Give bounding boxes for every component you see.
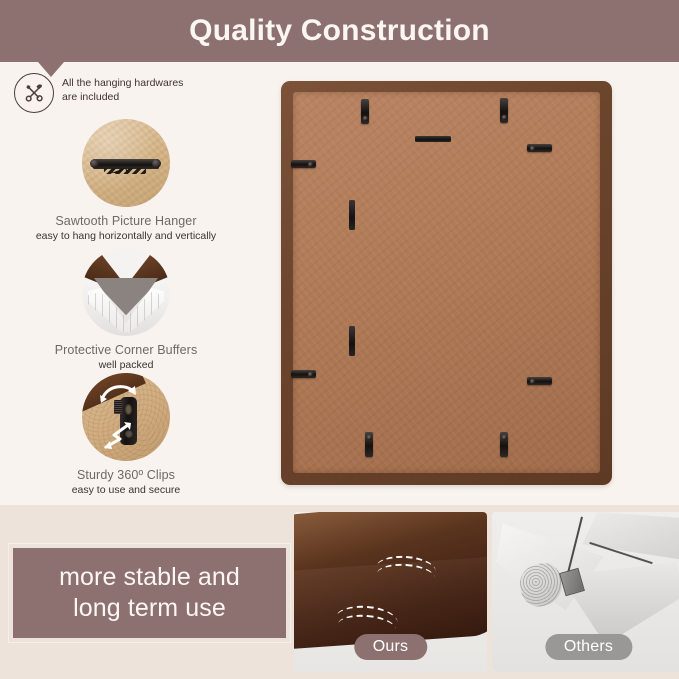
- hardware-note-line2: are included: [62, 91, 119, 103]
- claim-text: more stable and long term use: [59, 562, 240, 624]
- turn-clip-top-right: [500, 98, 508, 123]
- screw-right-icon: [152, 159, 161, 168]
- sturdy-360-clips-photo: [82, 373, 170, 461]
- feature-sawtooth-hanger: Sawtooth Picture Hanger easy to hang hor…: [0, 119, 252, 242]
- comparison-section: more stable and long term use Ours Othe: [0, 505, 679, 679]
- slide-arrows-icon: [100, 421, 134, 451]
- sawtooth-hanger-top: [415, 136, 451, 142]
- claim-line2: long term use: [73, 594, 226, 622]
- frame-backing-board: [293, 92, 600, 473]
- turn-clip-bottom-right: [500, 432, 508, 457]
- page-title: Quality Construction: [0, 0, 679, 62]
- features-column: All the hanging hardwares are included S…: [0, 62, 252, 505]
- product-infographic: Quality Construction All the hanging har…: [0, 0, 679, 679]
- protective-corner-buffers-photo: [82, 248, 170, 336]
- claim-banner: more stable and long term use: [13, 548, 286, 638]
- turn-clip-left-lower: [291, 370, 316, 378]
- frame-wood-border: [281, 81, 612, 485]
- turn-clip-top-left: [361, 99, 369, 124]
- feature-subtitle: well packed: [0, 359, 252, 371]
- feature-360-clips: Sturdy 360º Clips easy to use and secure: [0, 373, 252, 496]
- turn-clip-right-upper: [527, 144, 552, 152]
- others-label-pill: Others: [545, 634, 632, 660]
- turn-clip-right-lower: [527, 377, 552, 385]
- header-banner: Quality Construction: [0, 0, 679, 62]
- frame-back-photo: [252, 62, 679, 505]
- sawtooth-picture-hanger-photo: [82, 119, 170, 207]
- feature-corner-buffers: Protective Corner Buffers well packed: [0, 248, 252, 371]
- tools-icon: [14, 73, 54, 113]
- comparison-card-ours: Ours: [294, 512, 487, 672]
- comparison-card-others: Others: [492, 512, 679, 672]
- screw-left-icon: [90, 159, 99, 168]
- hardware-note-line1: All the hanging hardwares: [62, 77, 183, 89]
- feature-title: Sawtooth Picture Hanger: [0, 214, 252, 228]
- sawtooth-teeth: [104, 168, 146, 174]
- sawtooth-hanger-left-lower: [349, 326, 355, 356]
- ours-label-pill: Ours: [354, 634, 427, 660]
- feature-subtitle: easy to use and secure: [0, 484, 252, 496]
- feature-title: Sturdy 360º Clips: [0, 468, 252, 482]
- hardware-included-text: All the hanging hardwares are included: [62, 72, 183, 104]
- turn-clip-hole-upper: [125, 404, 132, 415]
- rotation-arrow-icon: [98, 381, 140, 403]
- hardware-included-note: All the hanging hardwares are included: [14, 72, 246, 113]
- turn-clip-left-upper: [291, 160, 316, 168]
- turn-clip-bottom-left: [365, 432, 373, 457]
- feature-title: Protective Corner Buffers: [0, 343, 252, 357]
- sawtooth-hanger-left-upper: [349, 200, 355, 230]
- feature-subtitle: easy to hang horizontally and vertically: [0, 230, 252, 242]
- claim-line1: more stable and: [59, 563, 240, 591]
